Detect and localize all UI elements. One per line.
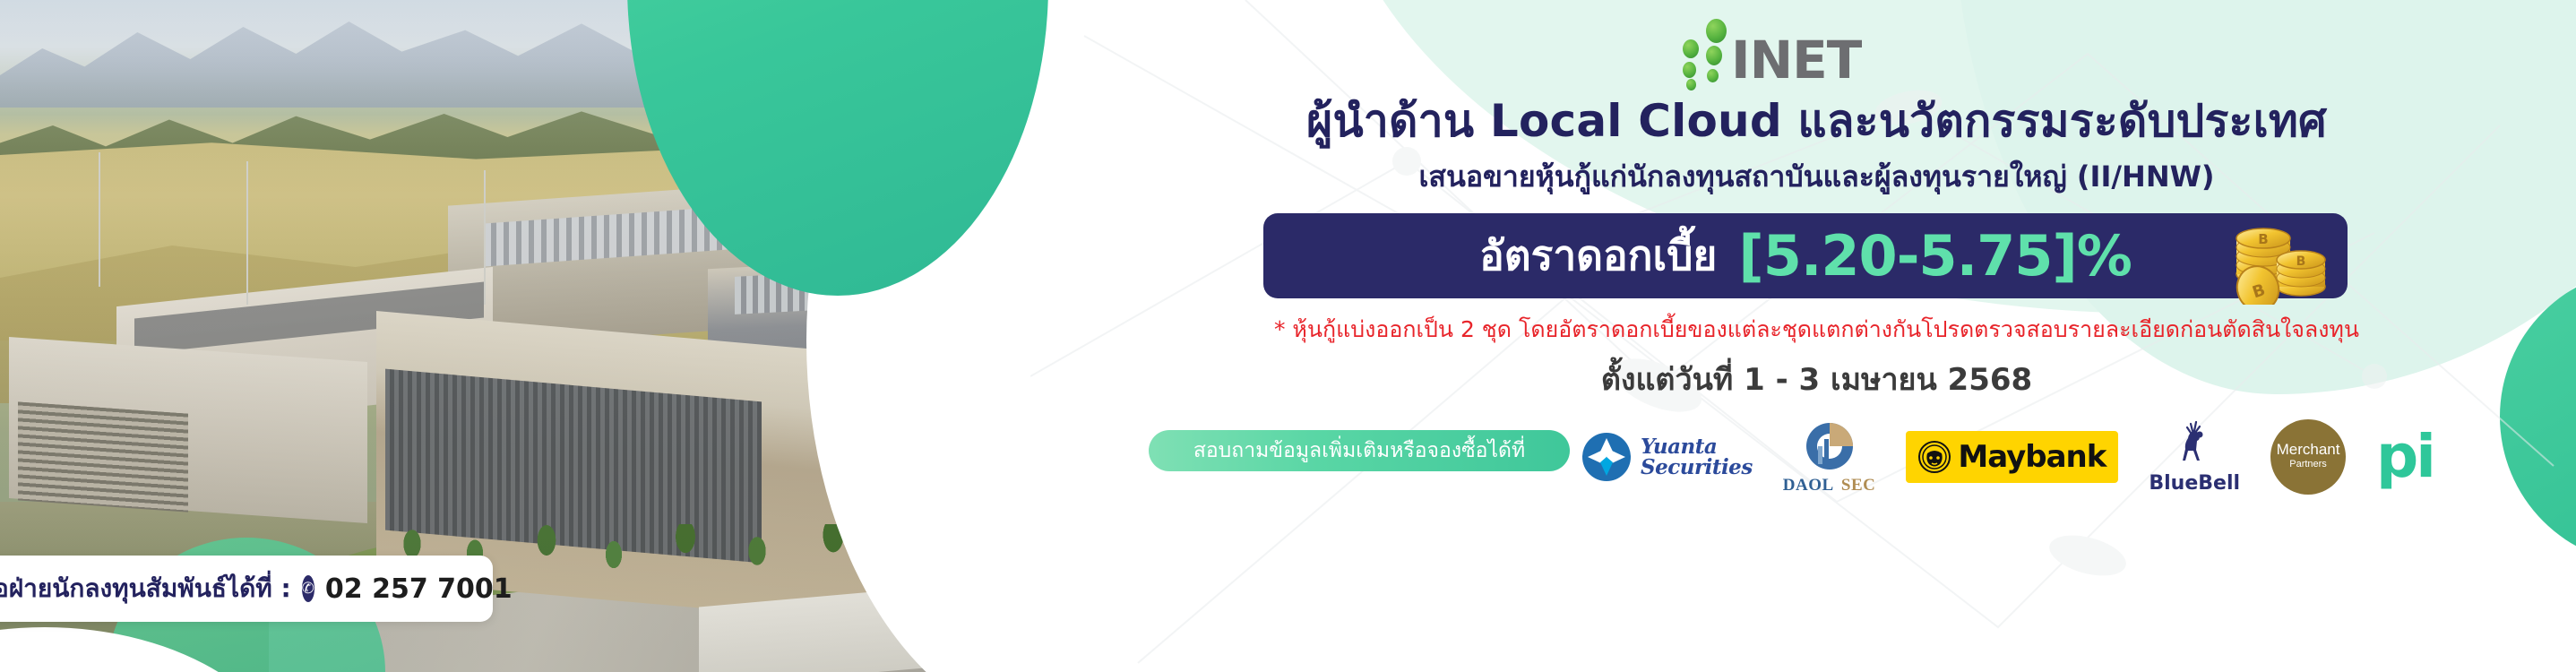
yuanta-star-icon bbox=[1581, 432, 1632, 482]
inet-logo-text: INET bbox=[1731, 37, 1861, 84]
content-column: INET ผู้นำด้าน Local Cloud และนวัตกรรมระ… bbox=[1057, 0, 2576, 672]
promo-banner: INET ผู้นำด้าน Local Cloud และนวัตกรรมระ… bbox=[0, 0, 2576, 672]
merchant-name-line1: Merchant bbox=[2277, 442, 2340, 457]
subheadline: เสนอขายหุ้นกู้แก่นักลงทุนสถาบันและผู้ลงท… bbox=[1057, 154, 2576, 200]
merchant-name-line2: Partners bbox=[2289, 457, 2327, 473]
bluebell-deer-icon bbox=[2173, 420, 2216, 470]
maybank-tiger-icon bbox=[1918, 441, 1951, 473]
partner-logo-maybank[interactable]: Maybank bbox=[1906, 416, 2118, 498]
daol-donut-icon bbox=[1802, 419, 1857, 473]
footnote-text: * หุ้นกู้แบ่งออกเป็น 2 ชุด โดยอัตราดอกเบ… bbox=[1057, 312, 2576, 348]
interest-rate-label: อัตราดอกเบี้ย bbox=[1479, 223, 1717, 289]
interest-rate-value: [5.20-5.75]% bbox=[1738, 223, 2131, 289]
svg-text:B: B bbox=[2258, 231, 2268, 247]
headline: ผู้นำด้าน Local Cloud และนวัตกรรมระดับปร… bbox=[1057, 86, 2576, 157]
contact-label: ติดต่อฝ่ายนักลงทุนสัมพันธ์ได้ที่ : bbox=[0, 569, 291, 608]
partner-logo-merchant[interactable]: Merchant Partners bbox=[2270, 416, 2346, 498]
daol-name-line2: SEC bbox=[1838, 476, 1875, 495]
inet-dots-logo bbox=[1667, 18, 1736, 84]
daol-name-line1: DAOL bbox=[1783, 476, 1833, 495]
maybank-name: Maybank bbox=[1958, 439, 2106, 475]
merchant-circle-icon: Merchant Partners bbox=[2270, 419, 2346, 495]
interest-rate-box: อัตราดอกเบี้ย [5.20-5.75]% bbox=[1263, 213, 2348, 298]
partner-logo-daolsec[interactable]: DAOL SEC bbox=[1783, 416, 1876, 498]
yuanta-name-line2: Securities bbox=[1641, 457, 1753, 478]
inquiry-button[interactable]: สอบถามข้อมูลเพิ่มเติมหรือจองซื้อได้ที่ bbox=[1149, 430, 1570, 471]
partner-logo-bluebell[interactable]: BlueBell bbox=[2149, 416, 2240, 498]
pi-wordmark-icon: pi bbox=[2376, 434, 2434, 481]
svg-text:B: B bbox=[2296, 254, 2306, 269]
partner-logo-yuanta[interactable]: Yuanta Securities bbox=[1581, 416, 1753, 498]
gold-coins-icon: B B B bbox=[2224, 188, 2331, 305]
partner-logo-pi[interactable]: pi bbox=[2376, 416, 2434, 498]
contact-phone-number[interactable]: 02 257 7001 bbox=[325, 573, 513, 605]
inquiry-button-label: สอบถามข้อมูลเพิ่มเติมหรือจองซื้อได้ที่ bbox=[1193, 435, 1525, 467]
bluebell-name: BlueBell bbox=[2149, 472, 2240, 495]
offering-date: ตั้งแต่วันที่ 1 - 3 เมษายน 2568 bbox=[1057, 355, 2576, 403]
investor-relations-contact: ติดต่อฝ่ายนักลงทุนสัมพันธ์ได้ที่ : ✆ 02 … bbox=[0, 556, 493, 622]
phone-icon: ✆ bbox=[302, 575, 314, 602]
inet-logo: INET bbox=[1667, 16, 1926, 84]
partner-logos: Yuanta Securities DAOL SEC bbox=[1581, 408, 2558, 506]
yuanta-name-line1: Yuanta bbox=[1641, 436, 1753, 457]
